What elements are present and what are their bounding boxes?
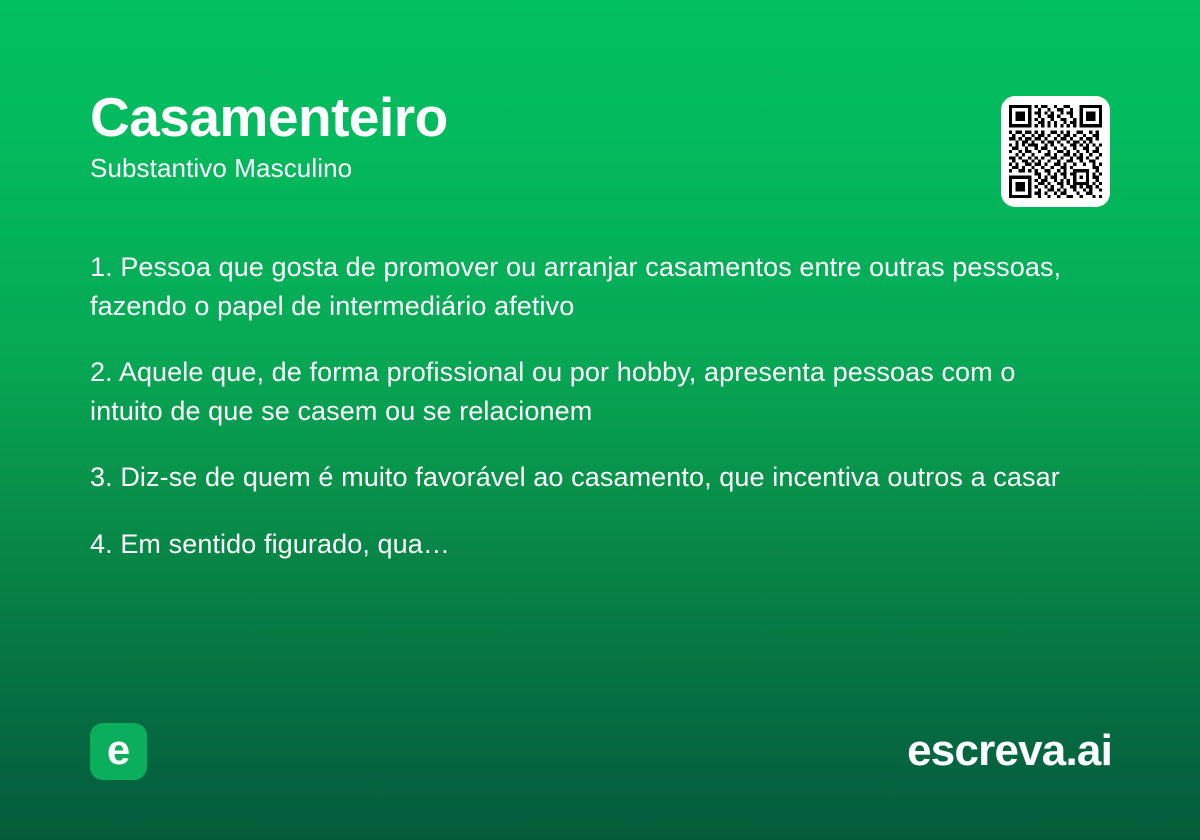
qr-code-icon <box>1009 105 1102 198</box>
card-footer: e escreva.ai <box>90 722 1112 780</box>
definition-item: 3. Diz-se de quem é muito favorável ao c… <box>90 458 1120 497</box>
definition-item: 4. Em sentido figurado, qua… <box>90 525 1120 564</box>
word-class-label: Substantivo Masculino <box>90 152 1110 184</box>
brand-logo: e <box>90 723 147 780</box>
dictionary-card: Casamenteiro Substantivo Masculino <box>0 0 1200 840</box>
definition-item: 2. Aquele que, de forma profissional ou … <box>90 353 1065 430</box>
qr-code-panel[interactable] <box>1001 96 1110 207</box>
card-header: Casamenteiro Substantivo Masculino <box>90 86 1110 216</box>
definition-item: 1. Pessoa que gosta de promover ou arran… <box>90 248 1120 325</box>
brand-wordmark: escreva.ai <box>907 727 1112 775</box>
page-title: Casamenteiro <box>90 86 1110 148</box>
brand-logo-glyph: e <box>107 729 130 771</box>
definitions-list: 1. Pessoa que gosta de promover ou arran… <box>90 248 1120 563</box>
